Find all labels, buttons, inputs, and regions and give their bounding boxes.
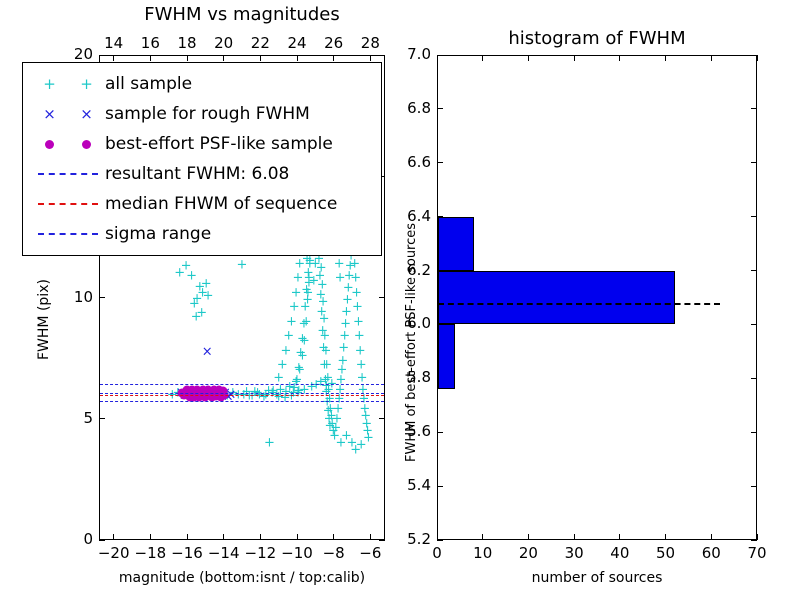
dashdot-line-icon xyxy=(38,233,98,235)
scatter-point: + xyxy=(291,286,302,299)
histogram-y-tick xyxy=(437,486,443,487)
histogram-x-tick-top xyxy=(711,55,712,61)
scatter-point: + xyxy=(292,272,303,285)
scatter-point: + xyxy=(335,272,346,285)
histogram-title: histogram of FWHM xyxy=(437,28,757,49)
scatter-point: + xyxy=(352,301,363,314)
scatter-point: + xyxy=(316,262,327,275)
y-axis-tick-label: 0 xyxy=(51,530,93,548)
figure-canvas: FWHM vs magnitudes magnitude (bottom:isn… xyxy=(0,0,800,600)
scatter-point: + xyxy=(355,344,366,357)
histogram-y-tick-right xyxy=(751,216,757,217)
y-axis-tick xyxy=(99,540,105,541)
legend-marker-key xyxy=(31,219,105,249)
y-axis-tick-label: 10 xyxy=(51,288,93,306)
legend-item-3: resultant FWHM: 6.08 xyxy=(31,159,371,189)
histogram-x-tick-top xyxy=(528,55,529,61)
scatter-point: + xyxy=(294,257,305,270)
histogram-x-tick-label: 70 xyxy=(735,544,779,562)
y-axis-tick-right xyxy=(379,540,385,541)
scatter-point: + xyxy=(283,330,294,343)
scatter-point: + xyxy=(319,313,330,326)
legend-box: ++all sample××sample for rough FWHMbest-… xyxy=(22,62,382,256)
dashed-line-icon xyxy=(38,173,98,175)
scatter-point: + xyxy=(318,296,329,309)
histogram-y-tick-label: 5.6 xyxy=(387,422,431,440)
y-axis-tick-label: 20 xyxy=(51,45,93,63)
scatter-point: + xyxy=(174,267,185,280)
cross-marker-icon: × xyxy=(43,107,56,122)
scatter-point: + xyxy=(351,286,362,299)
legend-item-label: resultant FWHM: 6.08 xyxy=(105,164,289,184)
histogram-y-tick-right xyxy=(751,108,757,109)
histogram-x-tick xyxy=(619,534,620,540)
plus-marker-icon: + xyxy=(80,77,93,92)
scatter-point: + xyxy=(281,344,292,357)
scatter-point: + xyxy=(353,315,364,328)
legend-item-2: best-effort PSF-like sample xyxy=(31,129,371,159)
histogram-x-tick xyxy=(665,534,666,540)
histogram-y-tick-label: 6.0 xyxy=(387,314,431,332)
histogram-y-tick-right xyxy=(751,162,757,163)
scatter-point: + xyxy=(334,257,345,270)
histogram-y-tick-label: 5.2 xyxy=(387,530,431,548)
histogram-x-tick-label: 30 xyxy=(552,544,596,562)
histogram-bar xyxy=(438,217,474,271)
legend-marker-key xyxy=(31,129,105,159)
histogram-y-tick-label: 5.4 xyxy=(387,476,431,494)
histogram-x-tick xyxy=(482,534,483,540)
histogram-x-tick xyxy=(574,534,575,540)
histogram-bar xyxy=(438,271,675,325)
y-axis-tick-label: 5 xyxy=(51,409,93,427)
scatter-point: + xyxy=(354,330,365,343)
histogram-x-tick-label: 10 xyxy=(461,544,505,562)
scatter-point: + xyxy=(293,361,304,374)
histogram-x-tick-top xyxy=(619,55,620,61)
scatter-point: + xyxy=(295,347,306,360)
scatter-point: + xyxy=(300,301,311,314)
histogram-x-tick-label: 40 xyxy=(598,544,642,562)
histogram-y-tick xyxy=(437,55,443,56)
histogram-y-tick-label: 6.4 xyxy=(387,207,431,225)
histogram-y-tick-right xyxy=(751,378,757,379)
legend-item-label: all sample xyxy=(105,74,192,94)
scatter-point: + xyxy=(339,330,350,343)
legend-item-label: sample for rough FWHM xyxy=(105,104,310,124)
scatter-ylabel: FWHM (pix) xyxy=(36,279,52,360)
scatter-xlabel: magnitude (bottom:isnt / top:calib) xyxy=(99,570,385,586)
histogram-y-tick xyxy=(437,540,443,541)
legend-item-4: median FHWM of sequence xyxy=(31,189,371,219)
histogram-x-tick-top xyxy=(574,55,575,61)
scatter-point: + xyxy=(191,310,202,323)
histogram-y-tick xyxy=(437,162,443,163)
histogram-y-tick-label: 7.0 xyxy=(387,45,431,63)
histogram-y-tick-label: 6.6 xyxy=(387,153,431,171)
dot-marker-icon xyxy=(82,140,91,149)
scatter-point: + xyxy=(337,354,348,367)
histogram-x-tick-label: 60 xyxy=(689,544,733,562)
histogram-bar xyxy=(438,324,455,389)
scatter-point: + xyxy=(317,279,328,292)
histogram-y-tick xyxy=(437,108,443,109)
histogram-x-tick-top xyxy=(757,55,758,61)
histogram-x-tick-top xyxy=(482,55,483,61)
scatter-point: + xyxy=(299,318,310,331)
scatter-point: + xyxy=(336,437,347,450)
histogram-x-tick xyxy=(528,534,529,540)
histogram-y-tick xyxy=(437,432,443,433)
histogram-y-tick-right xyxy=(751,540,757,541)
scatter-point: + xyxy=(237,258,248,271)
scatter-point: + xyxy=(289,301,300,314)
scatter-point: × xyxy=(202,346,213,359)
scatter-point: + xyxy=(286,315,297,328)
histogram-x-tick-label: 50 xyxy=(644,544,688,562)
scatter-point: + xyxy=(203,290,214,303)
histogram-y-tick-right xyxy=(751,270,757,271)
histogram-y-tick-right xyxy=(751,55,757,56)
legend-item-label: best-effort PSF-like sample xyxy=(105,134,333,154)
legend-item-0: ++all sample xyxy=(31,69,371,99)
scatter-point: + xyxy=(297,332,308,345)
scatter-point: + xyxy=(340,318,351,331)
scatter-point: + xyxy=(341,306,352,319)
legend-item-5: sigma range xyxy=(31,219,371,249)
histogram-y-tick-right xyxy=(751,324,757,325)
cross-marker-icon: × xyxy=(80,107,93,122)
dot-marker-icon xyxy=(45,140,54,149)
scatter-point: + xyxy=(264,437,275,450)
histogram-x-tick-top xyxy=(437,55,438,61)
scatter-point: + xyxy=(321,344,332,357)
scatter-point: + xyxy=(273,371,284,384)
histogram-y-tick-label: 6.8 xyxy=(387,99,431,117)
scatter-point: + xyxy=(319,330,330,343)
histogram-x-tick-label: 20 xyxy=(506,544,550,562)
legend-item-label: median FHWM of sequence xyxy=(105,194,337,214)
legend-marker-key: ++ xyxy=(31,69,105,99)
legend-item-label: sigma range xyxy=(105,224,211,244)
scatter-point: + xyxy=(338,342,349,355)
scatter-plot-title: FWHM vs magnitudes xyxy=(99,4,385,25)
scatter-point: + xyxy=(303,286,314,299)
reference-line-dashdot xyxy=(100,384,384,385)
histogram-y-tick-label: 5.8 xyxy=(387,368,431,386)
scatter-point: + xyxy=(349,257,360,270)
histogram-xlabel: number of sources xyxy=(437,570,757,586)
legend-marker-key xyxy=(31,189,105,219)
histogram-x-tick xyxy=(711,534,712,540)
top-axis-tick-label: 28 xyxy=(348,34,392,52)
dashed-line-icon xyxy=(38,203,98,205)
histogram-median-line xyxy=(438,303,720,305)
reference-line-dashed xyxy=(100,395,384,396)
legend-item-1: ××sample for rough FWHM xyxy=(31,99,371,129)
reference-line-dashdot xyxy=(100,401,384,402)
plus-marker-icon: + xyxy=(43,77,56,92)
legend-marker-key xyxy=(31,159,105,189)
reference-line-dashed xyxy=(100,393,384,394)
histogram-y-tick-label: 6.2 xyxy=(387,261,431,279)
histogram-y-tick-right xyxy=(751,486,757,487)
histogram-x-tick-top xyxy=(665,55,666,61)
histogram-y-tick-right xyxy=(751,432,757,433)
scatter-point: + xyxy=(350,272,361,285)
legend-marker-key: ×× xyxy=(31,99,105,129)
